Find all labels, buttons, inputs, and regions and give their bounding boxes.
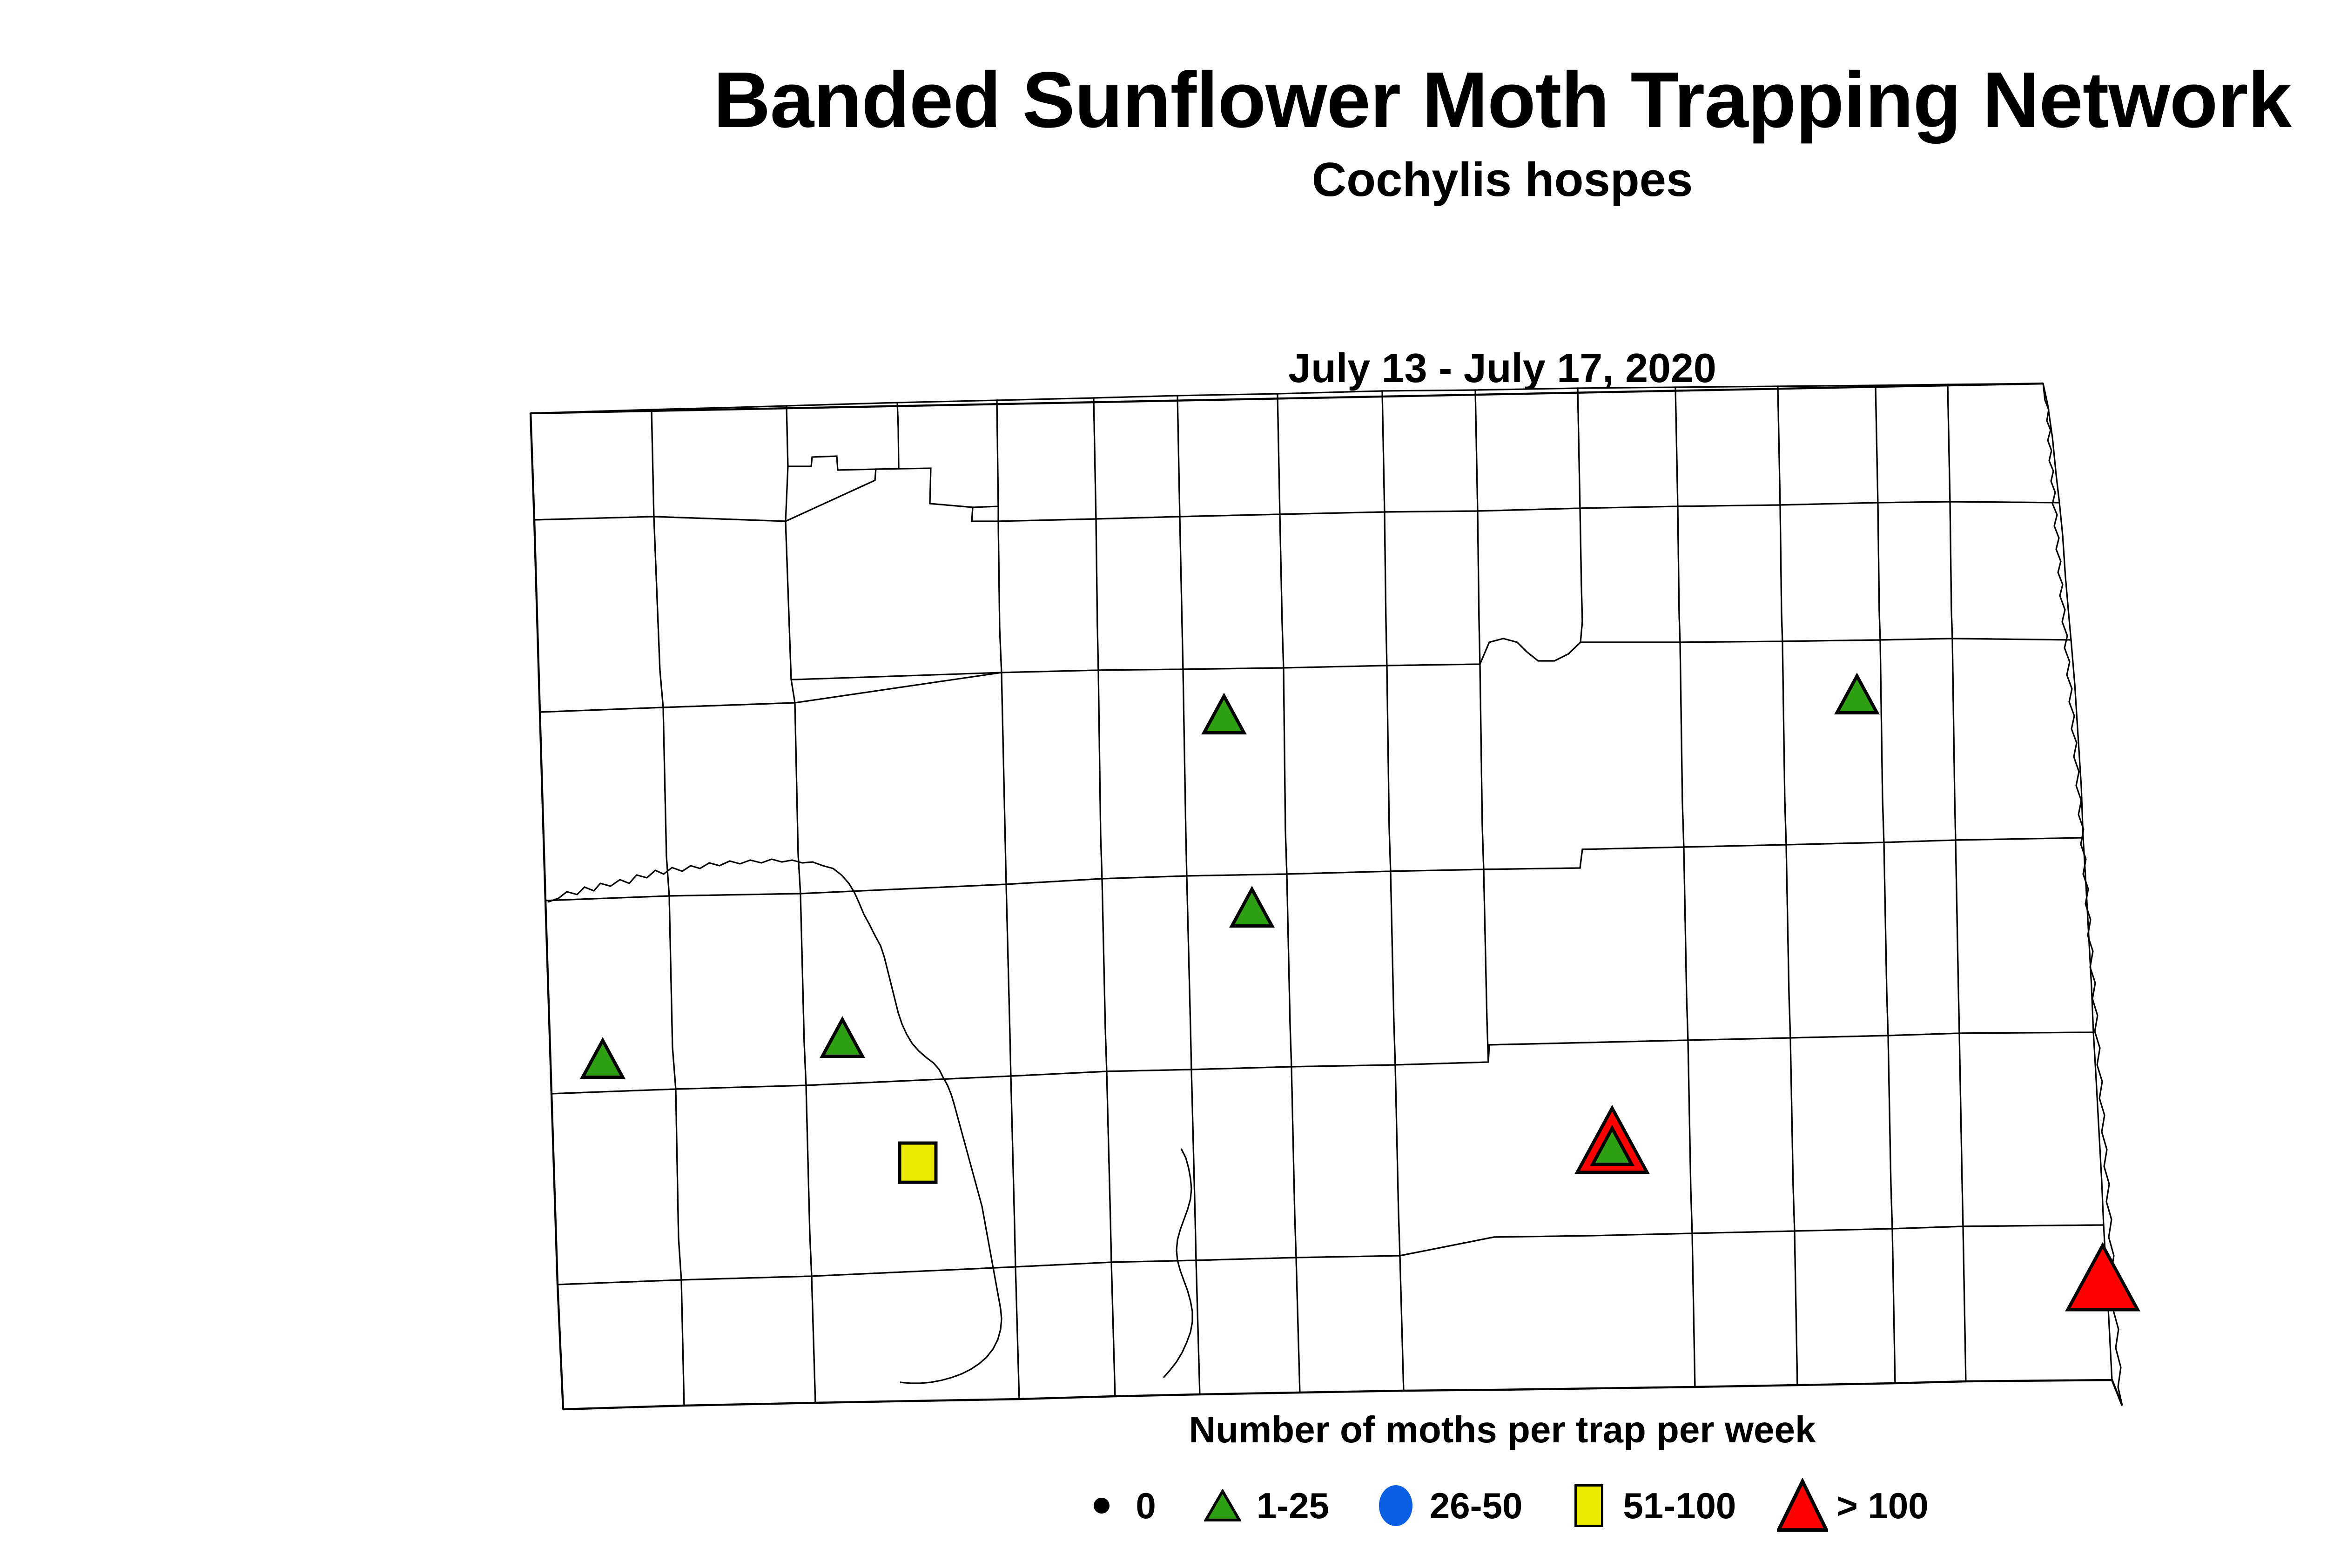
legend-item-3[interactable]: 51-100 [1563, 1480, 1736, 1531]
title-block: Banded Sunflower Moth Trapping Network C… [0, 61, 2327, 203]
county-layer [531, 384, 2112, 1409]
legend-label-0: 0 [1136, 1485, 1156, 1527]
legend: 0 1-25 26-50 51-100 [0, 1480, 2327, 1531]
north-dakota-map [512, 382, 2225, 1420]
map-marker-51-100[interactable] [900, 1143, 936, 1182]
legend-label-4: > 100 [1836, 1485, 1928, 1527]
legend-item-0[interactable]: 0 [1076, 1480, 1156, 1531]
legend-title: Number of moths per trap per week [0, 1408, 2327, 1451]
legend-label-1: 1-25 [1257, 1485, 1329, 1527]
legend-triangle-red-icon [1777, 1480, 1828, 1531]
legend-circle-blue-icon [1370, 1480, 1421, 1531]
legend-triangle-green-icon [1197, 1480, 1248, 1531]
poster-page: Banded Sunflower Moth Trapping Network C… [0, 0, 2327, 1568]
legend-item-2[interactable]: 26-50 [1370, 1480, 1523, 1531]
map-svg [512, 382, 2225, 1420]
legend-label-2: 26-50 [1430, 1485, 1523, 1527]
legend-label-3: 51-100 [1623, 1485, 1736, 1527]
legend-item-1[interactable]: 1-25 [1197, 1480, 1329, 1531]
legend-item-4[interactable]: > 100 [1777, 1480, 1928, 1531]
species-subtitle: Cochylis hospes [0, 155, 2327, 203]
page-title: Banded Sunflower Moth Trapping Network [0, 61, 2327, 140]
legend-square-yellow-icon [1563, 1480, 1614, 1531]
legend-dot-icon [1076, 1480, 1127, 1531]
